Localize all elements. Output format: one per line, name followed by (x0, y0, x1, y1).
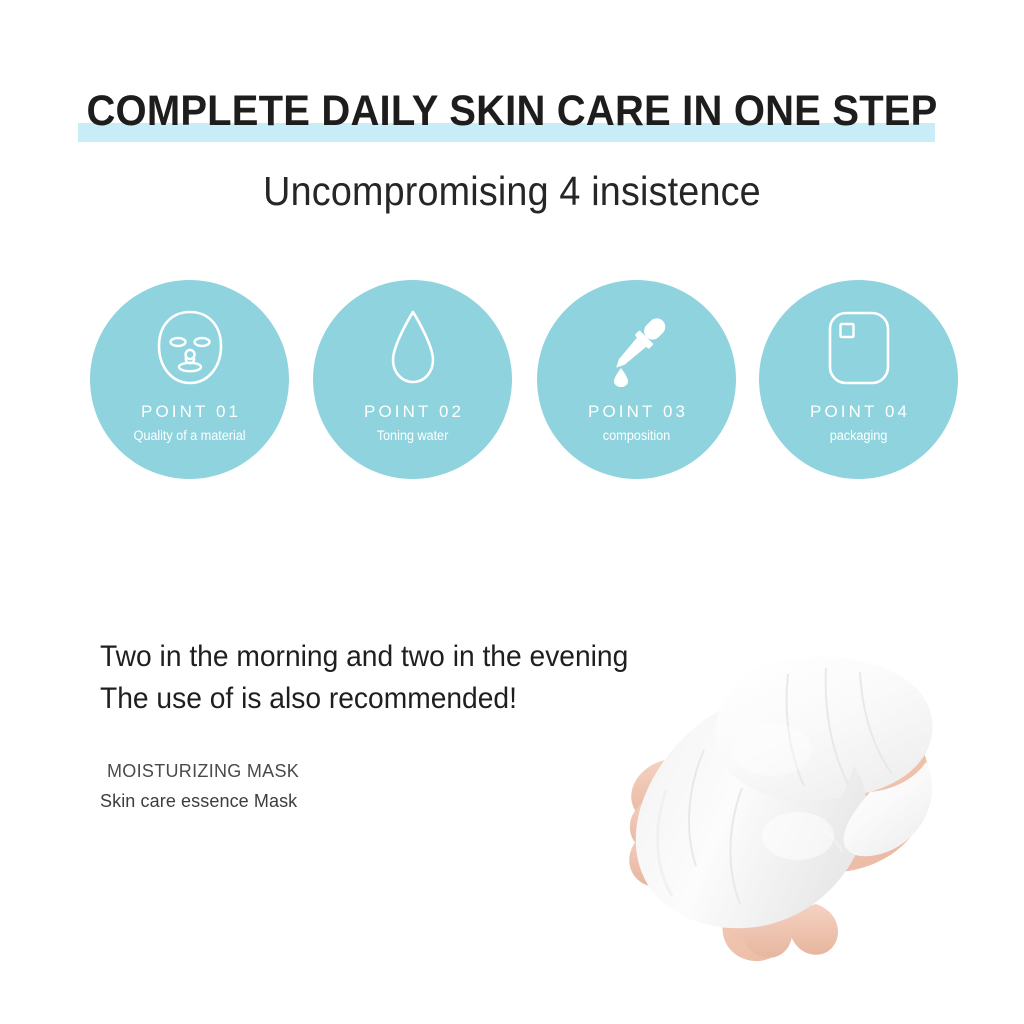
product-detail-page: COMPLETE DAILY SKIN CARE IN ONE STEP Unc… (0, 0, 1024, 1024)
product-info: MOISTURIZING MASK Skin care essence Mask (100, 756, 520, 816)
point-caption-3: composition (542, 428, 731, 443)
point-label-4: POINT 04 (759, 402, 958, 422)
point-label-3: POINT 03 (537, 402, 736, 422)
point-card-3: POINT 03 composition (537, 280, 736, 479)
point-label-1: POINT 01 (90, 402, 289, 422)
packaging-pouch-icon (759, 308, 958, 388)
point-label-2: POINT 02 (313, 402, 512, 422)
hand-holding-sheet-mask-photo (592, 640, 962, 976)
product-subtitle: Skin care essence Mask (100, 786, 520, 816)
product-name: MOISTURIZING MASK (100, 756, 520, 786)
point-card-4: POINT 04 packaging (759, 280, 958, 479)
water-drop-icon (313, 308, 512, 388)
header: COMPLETE DAILY SKIN CARE IN ONE STEP Unc… (0, 76, 1024, 215)
title-wrap: COMPLETE DAILY SKIN CARE IN ONE STEP (0, 76, 1024, 150)
page-title: COMPLETE DAILY SKIN CARE IN ONE STEP (36, 76, 988, 146)
dropper-pipette-icon (537, 308, 736, 388)
point-caption-1: Quality of a material (95, 428, 284, 443)
points-row: POINT 01 Quality of a material POINT 02 … (0, 280, 1024, 480)
point-card-2: POINT 02 Toning water (313, 280, 512, 479)
point-caption-4: packaging (764, 428, 953, 443)
point-caption-2: Toning water (318, 428, 507, 443)
point-card-1: POINT 01 Quality of a material (90, 280, 289, 479)
face-sheet-mask-icon (90, 308, 289, 388)
page-subtitle: Uncompromising 4 insistence (41, 168, 983, 215)
